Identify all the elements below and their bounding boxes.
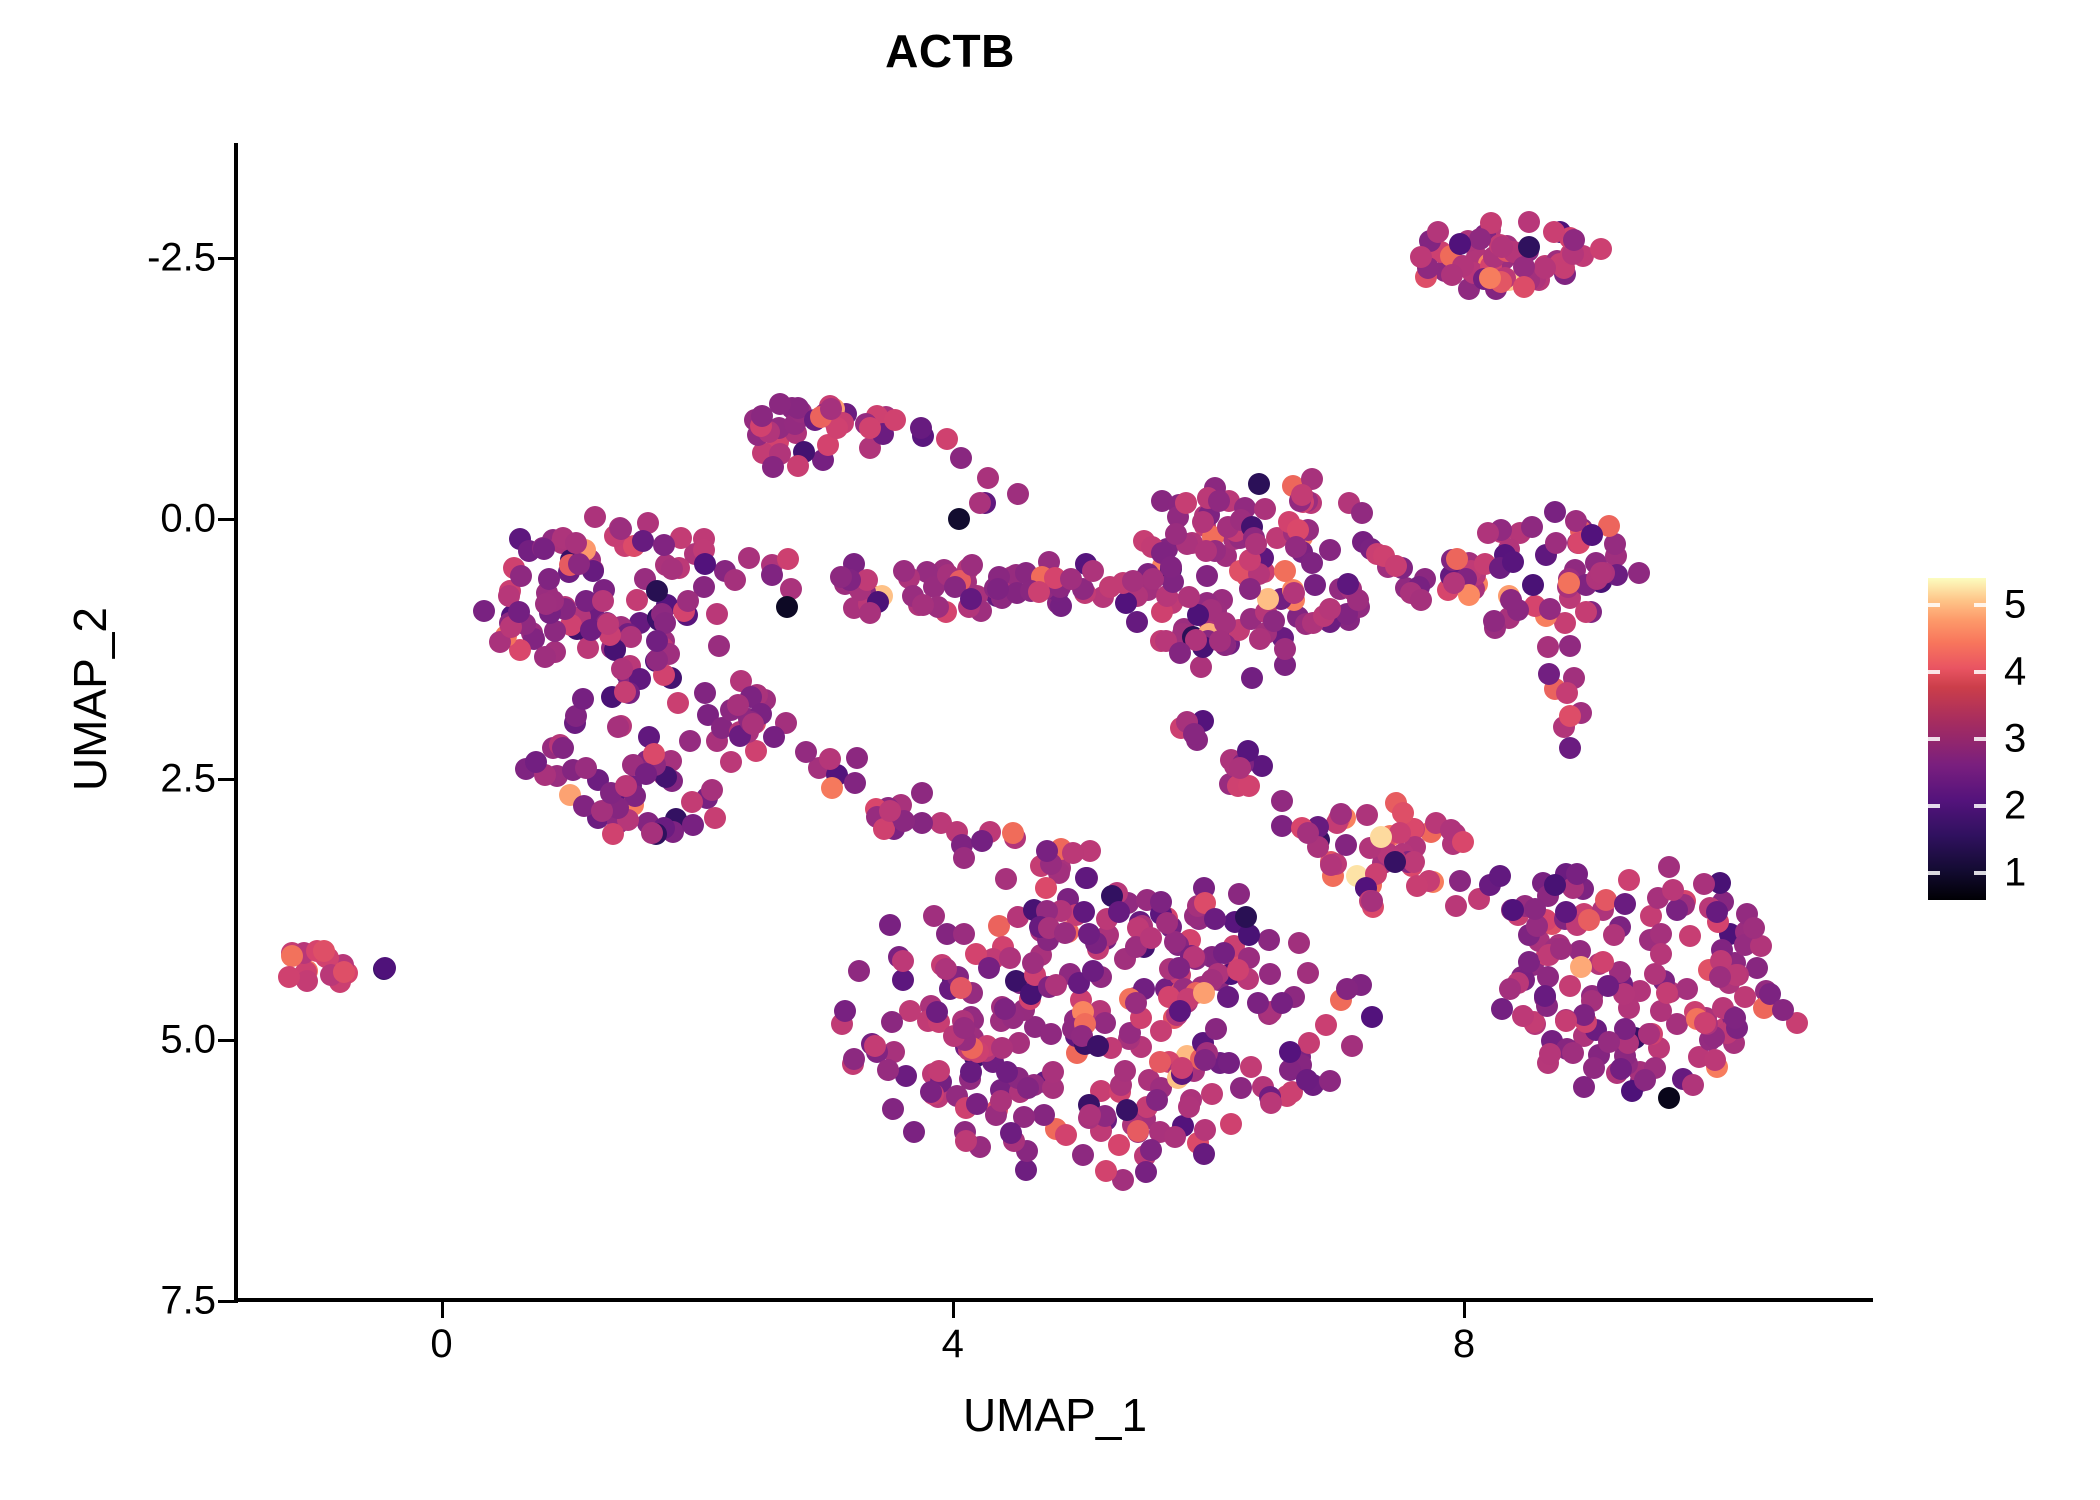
- x-tick-mark: [1463, 1302, 1466, 1318]
- scatter-point: [1502, 551, 1524, 573]
- scatter-point: [1240, 1056, 1262, 1078]
- scatter-point: [1583, 1057, 1605, 1079]
- scatter-point: [1254, 498, 1276, 520]
- legend-tick-label: 3: [2004, 717, 2026, 762]
- scatter-point: [1598, 1031, 1620, 1053]
- scatter-point: [1114, 1060, 1136, 1082]
- scatter-point: [1217, 986, 1239, 1008]
- scatter-point: [1385, 555, 1407, 577]
- scatter-point: [1108, 901, 1130, 923]
- legend-tick-mark: [1928, 603, 1940, 607]
- scatter-point: [859, 602, 881, 624]
- x-axis-line: [237, 1298, 1873, 1302]
- scatter-point: [830, 566, 852, 588]
- scatter-point: [991, 1037, 1013, 1059]
- y-tick-mark: [218, 778, 234, 781]
- legend-tick-label: 1: [2004, 851, 2026, 896]
- scatter-point: [525, 751, 547, 773]
- scatter-point: [1239, 578, 1261, 600]
- scatter-point: [1477, 522, 1499, 544]
- scatter-point: [1534, 985, 1556, 1007]
- scatter-point: [892, 950, 914, 972]
- scatter-point: [1628, 562, 1650, 584]
- scatter-point: [1590, 562, 1612, 584]
- scatter-point: [877, 1059, 899, 1081]
- scatter-point: [1190, 656, 1212, 678]
- scatter-point: [1094, 1012, 1116, 1034]
- scatter-point: [1002, 822, 1024, 844]
- scatter-point: [1556, 682, 1578, 704]
- scatter-point: [1563, 229, 1585, 251]
- scatter-point: [1544, 874, 1566, 896]
- scatter-point: [704, 807, 726, 829]
- scatter-point: [1164, 931, 1186, 953]
- scatter-point: [682, 814, 704, 836]
- scatter-point: [995, 868, 1017, 890]
- y-tick-label: 5.0: [0, 1018, 216, 1063]
- scatter-point: [1285, 536, 1307, 558]
- y-tick-label: -2.5: [0, 235, 216, 280]
- scatter-point: [1410, 246, 1432, 268]
- scatter-point: [935, 958, 957, 980]
- scatter-point: [1662, 879, 1684, 901]
- scatter-point: [679, 730, 701, 752]
- scatter-point: [1544, 501, 1566, 523]
- scatter-point: [912, 594, 934, 616]
- scatter-point: [1384, 851, 1406, 873]
- scatter-point: [632, 530, 654, 552]
- scatter-point-outlier: [776, 596, 798, 618]
- scatter-point: [1682, 1074, 1704, 1096]
- scatter-point: [681, 791, 703, 813]
- scatter-point: [1017, 1077, 1039, 1099]
- scatter-point: [1028, 581, 1050, 603]
- scatter-point: [572, 688, 594, 710]
- scatter-point: [592, 590, 614, 612]
- scatter-point: [961, 554, 983, 576]
- legend-tick-mark: [1928, 670, 1940, 674]
- scatter-point: [374, 957, 396, 979]
- scatter-point: [1274, 560, 1296, 582]
- scatter-point: [694, 682, 716, 704]
- scatter-point: [1489, 865, 1511, 887]
- scatter-point: [313, 940, 335, 962]
- scatter-point-outlier: [1658, 1087, 1680, 1109]
- scatter-point: [1045, 974, 1067, 996]
- scatter-point: [1356, 804, 1378, 826]
- scatter-point: [1082, 960, 1104, 982]
- scatter-point: [1694, 1012, 1716, 1034]
- scatter-point: [1341, 1035, 1363, 1057]
- scatter-point: [978, 957, 1000, 979]
- scatter-point: [1427, 221, 1449, 243]
- legend-tick-mark: [1928, 871, 1940, 875]
- scatter-point: [769, 393, 791, 415]
- scatter-point: [1271, 815, 1293, 837]
- scatter-point: [1193, 982, 1215, 1004]
- scatter-point: [1389, 822, 1411, 844]
- scatter-point: [1491, 998, 1513, 1020]
- scatter-point: [1115, 592, 1137, 614]
- scatter-point: [1538, 663, 1560, 685]
- scatter-point: [1443, 572, 1465, 594]
- page-title: ACTB: [0, 24, 1900, 78]
- scatter-point: [762, 456, 784, 478]
- scatter-point: [795, 741, 817, 763]
- scatter-point: [614, 681, 636, 703]
- scatter-point: [844, 772, 866, 794]
- scatter-point: [1249, 628, 1271, 650]
- scatter-point: [843, 1048, 865, 1070]
- scatter-point: [879, 914, 901, 936]
- scatter-point: [977, 467, 999, 489]
- x-tick-mark: [441, 1302, 444, 1318]
- scatter-point: [955, 1130, 977, 1152]
- scatter-point: [597, 613, 619, 635]
- scatter-point: [1522, 574, 1544, 596]
- scatter-point: [538, 568, 560, 590]
- scatter-point: [1140, 927, 1162, 949]
- scatter-point: [1227, 959, 1249, 981]
- scatter-point: [819, 748, 841, 770]
- scatter-point: [1208, 490, 1230, 512]
- scatter-point: [1164, 1126, 1186, 1148]
- scatter-point: [1597, 975, 1619, 997]
- scatter-point: [1168, 957, 1190, 979]
- scatter-point: [1220, 1113, 1242, 1135]
- scatter-point: [607, 716, 629, 738]
- scatter-point: [1746, 957, 1768, 979]
- scatter-point: [1304, 574, 1326, 596]
- scatter-point: [1055, 1124, 1077, 1146]
- scatter-point: [1296, 1069, 1318, 1091]
- scatter-point: [1555, 901, 1577, 923]
- scatter-point: [708, 635, 730, 657]
- scatter-point: [864, 1035, 886, 1057]
- scatter-point: [950, 447, 972, 469]
- scatter-point: [971, 830, 993, 852]
- y-tick-mark: [218, 1039, 234, 1042]
- scatter-point: [1075, 867, 1097, 889]
- scatter-point: [953, 847, 975, 869]
- scatter-point: [1150, 891, 1172, 913]
- scatter-point: [1539, 1043, 1561, 1065]
- scatter-point: [1000, 1122, 1022, 1144]
- scatter-point: [1676, 978, 1698, 1000]
- scatter-point: [996, 1061, 1018, 1083]
- scatter-point: [1545, 532, 1567, 554]
- scatter-point: [706, 603, 728, 625]
- scatter-point: [1099, 576, 1121, 598]
- scatter-point: [1127, 1120, 1149, 1142]
- scatter-point: [1062, 842, 1084, 864]
- scatter-point: [1634, 1069, 1656, 1091]
- scatter-point: [653, 534, 675, 556]
- scatter-point: [1336, 978, 1358, 1000]
- scatter-point: [1441, 264, 1463, 286]
- scatter-point: [724, 569, 746, 591]
- scatter-point: [1247, 992, 1269, 1014]
- scatter-point: [1116, 1099, 1138, 1121]
- scatter-point: [1446, 548, 1468, 570]
- scatter-point: [893, 560, 915, 582]
- scatter-point: [1178, 586, 1200, 608]
- scatter-point: [1724, 1007, 1746, 1029]
- scatter-point: [1271, 790, 1293, 812]
- scatter-point: [1614, 893, 1636, 915]
- scatter-point: [1274, 638, 1296, 660]
- scatter-point: [1518, 236, 1540, 258]
- scatter-point: [1201, 1083, 1223, 1105]
- scatter-point: [834, 1000, 856, 1022]
- scatter-point: [928, 1060, 950, 1082]
- scatter-point: [1392, 802, 1414, 824]
- scatter-point: [1228, 883, 1250, 905]
- scatter-point: [1022, 952, 1044, 974]
- scatter-point: [281, 945, 303, 967]
- scatter-point: [926, 1001, 948, 1023]
- scatter-point: [1007, 483, 1029, 505]
- scatter-point: [1183, 723, 1205, 745]
- scatter-point: [1361, 890, 1383, 912]
- scatter-point: [1559, 705, 1581, 727]
- scatter-point: [1319, 1070, 1341, 1092]
- scatter-point: [738, 547, 760, 569]
- scatter-point: [953, 1017, 975, 1039]
- scatter-point: [1218, 1052, 1240, 1074]
- scatter-point: [615, 775, 637, 797]
- scatter-point: [1248, 473, 1270, 495]
- scatter-point: [1258, 929, 1280, 951]
- scatter-point: [1035, 877, 1057, 899]
- scatter-point: [1666, 899, 1688, 921]
- plot-panel: [237, 143, 1873, 1301]
- scatter-point: [611, 658, 633, 680]
- scatter-point: [1073, 901, 1095, 923]
- scatter-point: [1297, 822, 1319, 844]
- scatter-point: [1072, 1144, 1094, 1166]
- scatter-point: [1534, 257, 1556, 279]
- scatter-point: [1518, 951, 1540, 973]
- scatter-point: [584, 506, 606, 528]
- scatter-point: [787, 455, 809, 477]
- scatter-point: [1319, 539, 1341, 561]
- scatter-point: [1518, 211, 1540, 233]
- scatter-point: [1483, 610, 1505, 632]
- scatter-point: [1578, 909, 1600, 931]
- scatter-point: [761, 564, 783, 586]
- scatter-point: [1042, 1061, 1064, 1083]
- scatter-point: [821, 777, 843, 799]
- scatter-point: [568, 553, 590, 575]
- scatter-point: [694, 553, 716, 575]
- scatter-point: [742, 713, 764, 735]
- legend-tick-mark: [1974, 670, 1986, 674]
- scatter-point: [533, 538, 555, 560]
- scatter-point: [643, 743, 665, 765]
- scatter-point: [1288, 932, 1310, 954]
- x-tick-label: 8: [1384, 1322, 1544, 1367]
- scatter-point: [646, 630, 668, 652]
- scatter-point: [920, 1081, 942, 1103]
- scatter-point: [1709, 966, 1731, 988]
- scatter-point: [950, 977, 972, 999]
- scatter-point: [646, 580, 668, 602]
- scatter-point: [1513, 276, 1535, 298]
- scatter-point: [1555, 1010, 1577, 1032]
- scatter-point: [990, 1090, 1012, 1112]
- scatter-point: [1194, 1049, 1216, 1071]
- scatter-point: [1108, 1134, 1130, 1156]
- scatter-point: [1175, 492, 1197, 514]
- scatter-point: [1491, 236, 1513, 258]
- scatter-point: [1743, 917, 1765, 939]
- scatter-point: [635, 763, 657, 785]
- scatter-point-outlier: [948, 508, 970, 530]
- scatter-point: [777, 548, 799, 570]
- legend-tick-mark: [1974, 737, 1986, 741]
- scatter-point: [552, 737, 574, 759]
- scatter-point: [1229, 757, 1251, 779]
- scatter-point: [1165, 523, 1187, 545]
- scatter-point: [1315, 1014, 1337, 1036]
- scatter-point: [1445, 895, 1467, 917]
- scatter-point: [641, 822, 663, 844]
- scatter-point: [1406, 875, 1428, 897]
- scatter-point: [1015, 1159, 1037, 1181]
- scatter-point: [602, 823, 624, 845]
- scatter-point: [1449, 870, 1471, 892]
- scatter-point: [936, 428, 958, 450]
- scatter-point: [1479, 267, 1501, 289]
- scatter-point: [879, 800, 901, 822]
- scatter-point: [1193, 1143, 1215, 1165]
- scatter-point: [278, 966, 300, 988]
- scatter-point: [1603, 924, 1625, 946]
- scatter-point: [987, 578, 1009, 600]
- scatter-point: [1590, 238, 1612, 260]
- scatter-point: [969, 492, 991, 514]
- scatter-point: [534, 646, 556, 668]
- scatter-point: [1330, 803, 1352, 825]
- scatter-point: [1283, 582, 1305, 604]
- scatter-point: [1259, 963, 1281, 985]
- scatter-point: [1693, 873, 1715, 895]
- scatter-point: [1082, 560, 1104, 582]
- scatter-point: [1060, 568, 1082, 590]
- legend-tick-label: 4: [2004, 649, 2026, 694]
- legend-tick-mark: [1974, 804, 1986, 808]
- scatter-point: [1279, 1041, 1301, 1063]
- scatter-point: [1335, 834, 1357, 856]
- scatter-point: [1245, 533, 1267, 555]
- scatter-point: [1125, 992, 1147, 1014]
- scatter-point: [1095, 1160, 1117, 1182]
- scatter-point: [1194, 1119, 1216, 1141]
- scatter-point: [1205, 1018, 1227, 1040]
- scatter-point: [296, 970, 318, 992]
- scatter-point: [820, 398, 842, 420]
- legend-tick-mark: [1928, 737, 1940, 741]
- x-tick-mark: [952, 1302, 955, 1318]
- scatter-point: [1566, 863, 1588, 885]
- scatter-point-outlier: [1370, 826, 1392, 848]
- scatter-point: [1610, 1058, 1632, 1080]
- scatter-point: [1235, 906, 1257, 928]
- scatter-point: [1054, 922, 1076, 944]
- scatter-point: [1126, 611, 1148, 633]
- scatter-point: [1575, 601, 1597, 623]
- scatter-point: [1570, 956, 1592, 978]
- scatter-point: [1592, 951, 1614, 973]
- scatter-point: [1087, 1035, 1109, 1057]
- scatter-point: [1558, 572, 1580, 594]
- scatter-point: [1040, 1023, 1062, 1045]
- x-tick-label: 0: [362, 1322, 522, 1367]
- scatter-point: [720, 751, 742, 773]
- scatter-point: [999, 947, 1021, 969]
- scatter-point: [1204, 908, 1226, 930]
- scatter-point: [1260, 1092, 1282, 1114]
- scatter-point: [661, 558, 683, 580]
- scatter-point: [535, 593, 557, 615]
- scatter-point: [1195, 540, 1217, 562]
- scatter-point: [1410, 589, 1432, 611]
- y-tick-label: 7.5: [0, 1279, 216, 1324]
- scatter-point: [1169, 1000, 1191, 1022]
- legend-tick-label: 5: [2004, 582, 2026, 627]
- scatter-point: [1704, 1049, 1726, 1071]
- scatter-point: [1169, 642, 1191, 664]
- scatter-point: [1469, 228, 1491, 250]
- scatter-point: [1512, 1005, 1534, 1027]
- scatter-point: [1135, 1161, 1157, 1183]
- scatter-point: [1192, 511, 1214, 533]
- scatter-point: [881, 1011, 903, 1033]
- scatter-point: [1499, 978, 1521, 1000]
- scatter-point: [1650, 943, 1672, 965]
- scatter-point: [1513, 256, 1535, 278]
- legend-tick-mark: [1928, 804, 1940, 808]
- scatter-point: [1449, 233, 1471, 255]
- y-axis-line: [234, 143, 238, 1303]
- scatter-point: [1149, 1051, 1171, 1073]
- scatter-point: [1122, 570, 1144, 592]
- y-tick-mark: [218, 1300, 234, 1303]
- scatter-point: [1079, 1104, 1101, 1126]
- y-axis-label: UMAP_2: [63, 399, 117, 999]
- scatter-point: [1337, 573, 1359, 595]
- scatter-point: [701, 779, 723, 801]
- scatter-point: [1772, 999, 1794, 1021]
- scatter-point: [677, 590, 699, 612]
- color-legend: 12345: [1928, 578, 2096, 900]
- scatter-point: [1036, 840, 1058, 862]
- scatter-point: [848, 960, 870, 982]
- scatter-point: [960, 588, 982, 610]
- scatter-point: [1559, 737, 1581, 759]
- scatter-point: [966, 1093, 988, 1115]
- scatter-point: [1351, 502, 1373, 524]
- scatter-point: [1301, 552, 1323, 574]
- scatter-point: [1361, 1006, 1383, 1028]
- scatter-point: [1537, 636, 1559, 658]
- scatter-point: [1706, 901, 1728, 923]
- scatter-point: [1638, 1023, 1660, 1045]
- scatter-point: [1543, 221, 1565, 243]
- scatter-point: [1297, 962, 1319, 984]
- scatter-point: [1320, 854, 1342, 876]
